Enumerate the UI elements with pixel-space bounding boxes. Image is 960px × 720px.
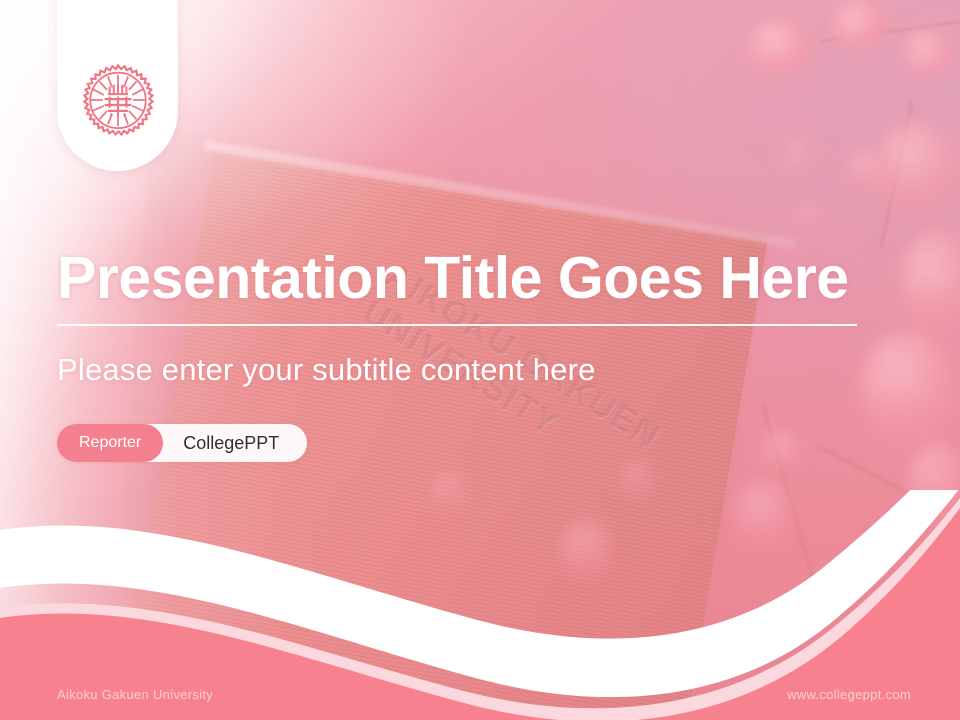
- title-divider: [57, 324, 857, 326]
- university-logo-badge: [57, 0, 178, 171]
- page-title: Presentation Title Goes Here: [57, 248, 897, 310]
- reporter-value: CollegePPT: [163, 433, 303, 454]
- aikoku-gakuen-university-seal-icon: [76, 63, 160, 147]
- footer-website-url: www.collegeppt.com: [787, 687, 911, 702]
- footer-university-name: Aikoku Gakuen University: [57, 687, 213, 702]
- bottom-wave-decoration: [0, 490, 960, 720]
- reporter-label: Reporter: [57, 424, 163, 462]
- presentation-slide: AIKOKU GAKUEN UNIVERSITY: [0, 0, 960, 720]
- reporter-badge[interactable]: Reporter CollegePPT: [57, 424, 307, 462]
- page-subtitle: Please enter your subtitle content here: [57, 352, 596, 388]
